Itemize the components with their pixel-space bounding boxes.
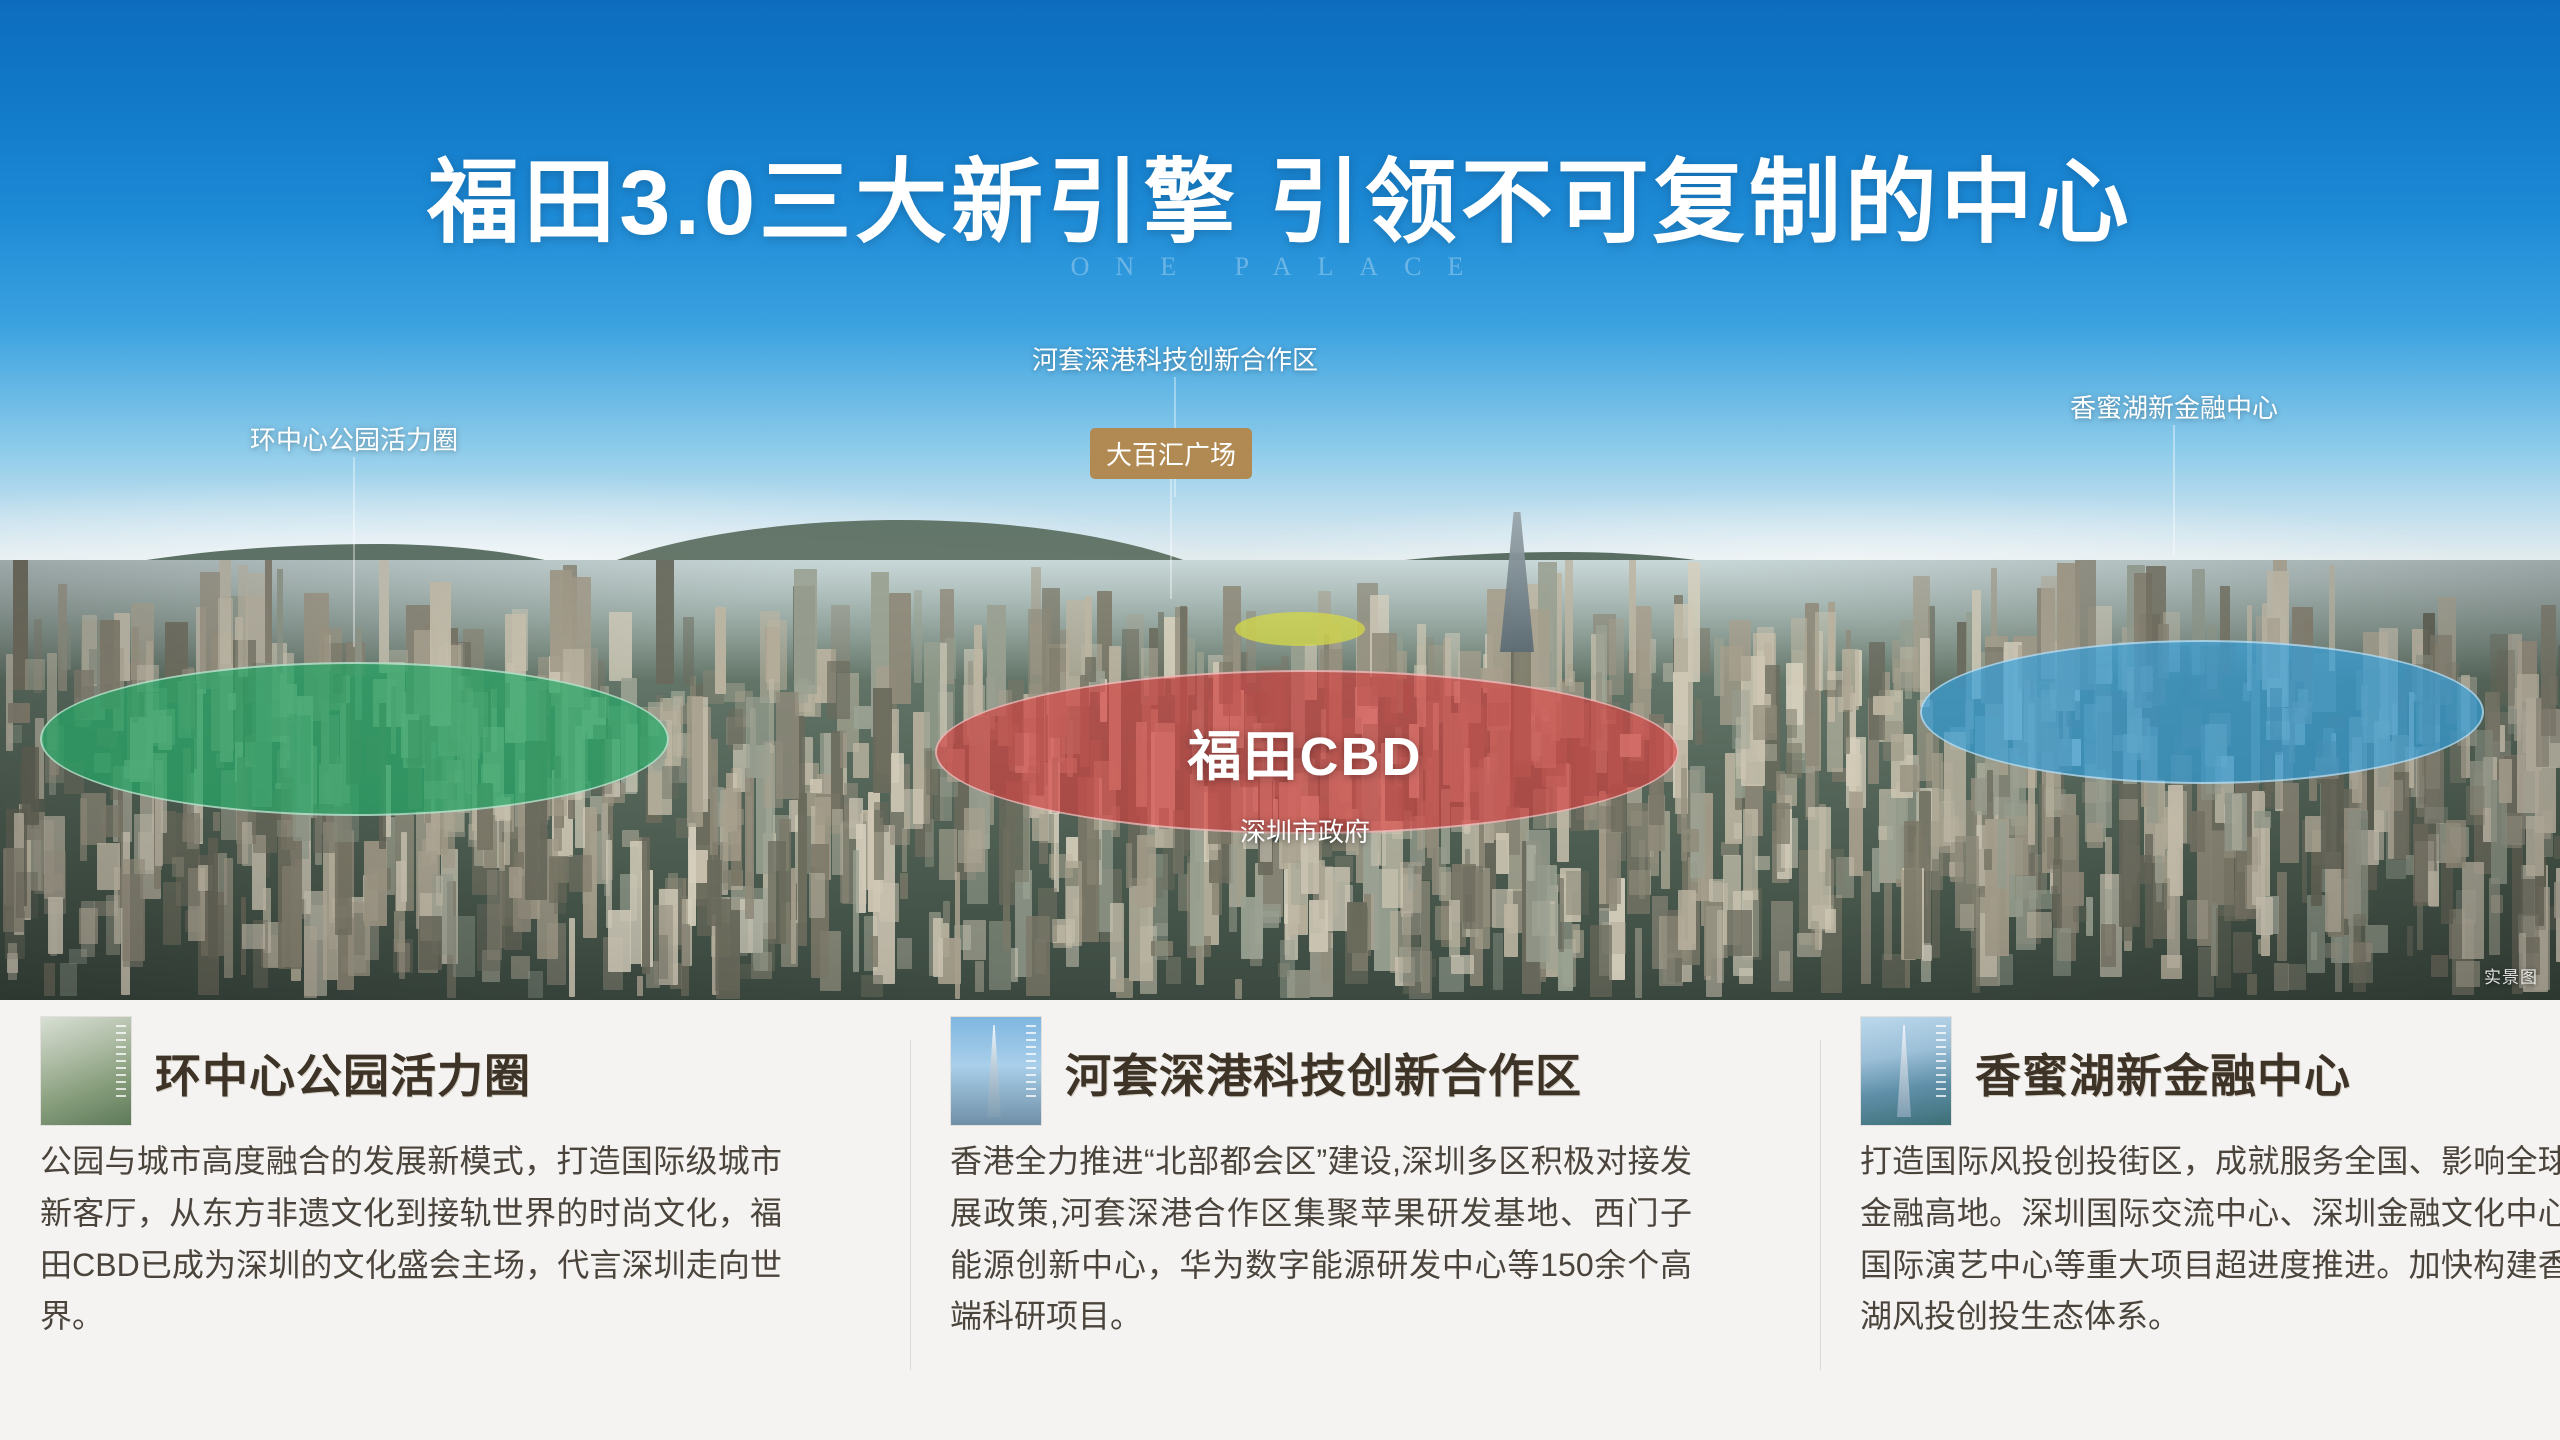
photo-credit: 实景图 (2484, 963, 2538, 988)
card-header: 香蜜湖新金融中心 (1860, 1010, 2560, 1128)
marker-label: 香蜜湖新金融中心 (2070, 388, 2278, 425)
marker-dabaihui[interactable]: 大百汇广场 (1090, 428, 1252, 479)
card-header: 环中心公园活力圈 (40, 1010, 800, 1128)
marker-xiangmihu[interactable]: 香蜜湖新金融中心 (2070, 388, 2278, 425)
marker-hetao[interactable]: 河套深港科技创新合作区 (1032, 340, 1318, 377)
info-cards-section: 环中心公园活力圈 公园与城市高度融合的发展新模式，打造国际级城市新客厅，从东方非… (0, 1000, 2560, 1440)
card-divider (1820, 1040, 1821, 1370)
page-title: 福田3.0三大新引擎 引领不可复制的中心 (0, 128, 2560, 261)
card-body: 香港全力推进“北部都会区”建设,深圳多区积极对接发展政策,河套深港合作区集聚苹果… (950, 1136, 1692, 1343)
card-thumbnail (950, 1016, 1042, 1126)
card-title: 环中心公园活力圈 (155, 1040, 531, 1106)
card-hetao[interactable]: 河套深港科技创新合作区 香港全力推进“北部都会区”建设,深圳多区积极对接发展政策… (950, 1010, 1710, 1430)
page-subtitle: ONE PALACE (0, 252, 2560, 282)
poster-page: 福田CBD 深圳市政府 福田3.0三大新引擎 引领不可复制的中心 ONE PAL… (0, 0, 2560, 1440)
hero-section: 福田CBD 深圳市政府 福田3.0三大新引擎 引领不可复制的中心 ONE PAL… (0, 0, 2560, 1000)
marker-badge-label: 大百汇广场 (1090, 428, 1252, 479)
card-divider (910, 1040, 911, 1370)
thumbnail-caption-strip (1936, 1025, 1946, 1101)
government-label: 深圳市政府 (1140, 812, 1470, 849)
thumbnail-caption-strip (1026, 1025, 1036, 1101)
card-ring-park[interactable]: 环中心公园活力圈 公园与城市高度融合的发展新模式，打造国际级城市新客厅，从东方非… (40, 1010, 800, 1430)
zone-green (40, 662, 669, 816)
marker-label: 河套深港科技创新合作区 (1032, 340, 1318, 377)
card-thumbnail (1860, 1016, 1952, 1126)
card-body: 打造国际风投创投街区，成就服务全国、影响全球的金融高地。深圳国际交流中心、深圳金… (1860, 1136, 2560, 1343)
card-xiangmihu[interactable]: 香蜜湖新金融中心 打造国际风投创投街区，成就服务全国、影响全球的金融高地。深圳国… (1860, 1010, 2560, 1430)
card-body: 公园与城市高度融合的发展新模式，打造国际级城市新客厅，从东方非遗文化到接轨世界的… (40, 1136, 782, 1343)
thumbnail-caption-strip (116, 1025, 126, 1101)
cbd-zone-label: 福田CBD (935, 712, 1675, 791)
zone-blue (1920, 640, 2484, 784)
card-thumbnail (40, 1016, 132, 1126)
marker-stem-line (2174, 425, 2175, 555)
card-title: 香蜜湖新金融中心 (1975, 1040, 2351, 1106)
marker-ring-park[interactable]: 环中心公园活力圈 (250, 420, 458, 457)
marker-stem-line (354, 457, 355, 647)
card-header: 河套深港科技创新合作区 (950, 1010, 1710, 1128)
marker-label: 环中心公园活力圈 (250, 420, 458, 457)
zone-yellow (1235, 612, 1365, 646)
marker-stem-line (1171, 479, 1172, 599)
card-title: 河套深港科技创新合作区 (1065, 1040, 1582, 1106)
